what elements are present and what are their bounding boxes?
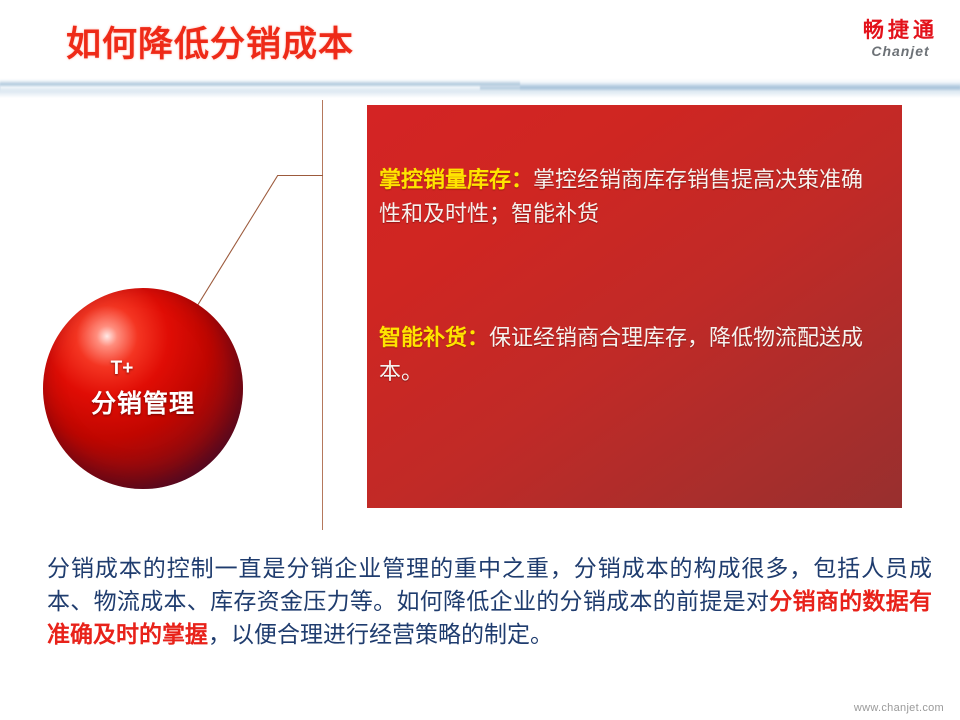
chanjet-logo: 畅捷通 Chanjet — [863, 20, 938, 58]
sphere-label-group: T+ 分销管理 — [43, 288, 243, 489]
t-plus-sphere: T+ 分销管理 — [43, 288, 243, 489]
header-band-wisp-left — [0, 80, 520, 92]
feature-item-2: 智能补货：保证经销商合理库存，降低物流配送成本。 — [379, 321, 872, 389]
sphere-module-label: 分销管理 — [91, 384, 195, 420]
feature-item-1-key: 掌控销量库存： — [379, 167, 533, 192]
logo-latin-text: Chanjet — [863, 44, 938, 58]
body-paragraph-part2: ，以便合理进行经营策略的制定。 — [208, 621, 553, 647]
slide: 如何降低分销成本 畅捷通 Chanjet T+ 分销管理 掌控销量库存：掌控经销… — [0, 0, 960, 720]
feature-panel: 掌控销量库存：掌控经销商库存销售提高决策准确性和及时性；智能补货 智能补货：保证… — [367, 105, 902, 508]
header-band-wisp-right — [480, 84, 960, 93]
leader-line-horizontal — [278, 175, 323, 176]
sphere-product-label: T+ — [111, 358, 134, 380]
logo-chinese-text: 畅捷通 — [863, 20, 938, 41]
vertical-divider-line — [322, 100, 323, 530]
body-paragraph: 分销成本的控制一直是分销企业管理的重中之重，分销成本的构成很多，包括人员成本、物… — [47, 552, 932, 651]
footer-website-url: www.chanjet.com — [854, 702, 944, 714]
feature-item-2-key: 智能补货： — [379, 325, 489, 350]
feature-item-1: 掌控销量库存：掌控经销商库存销售提高决策准确性和及时性；智能补货 — [379, 163, 872, 231]
page-title: 如何降低分销成本 — [66, 16, 354, 67]
